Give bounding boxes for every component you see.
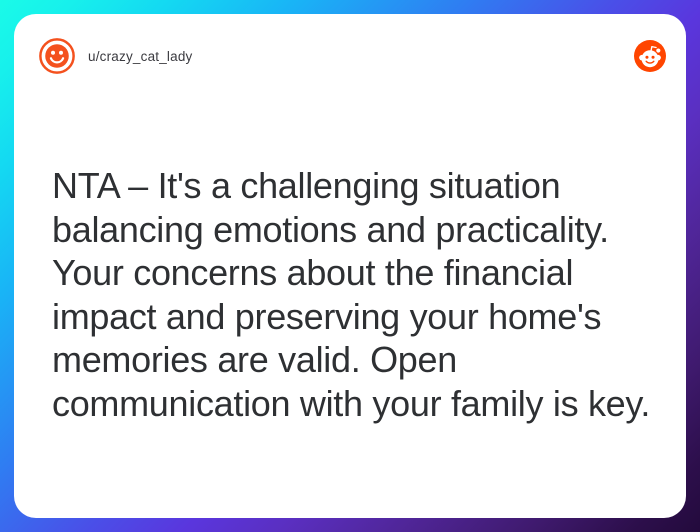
post-header: u/crazy_cat_lady — [14, 14, 686, 98]
author-block[interactable]: u/crazy_cat_lady — [38, 37, 193, 75]
reddit-post-card: u/crazy_cat_lady NTA – It's a challengin… — [14, 14, 686, 518]
author-username: u/crazy_cat_lady — [88, 49, 193, 64]
smiley-face-avatar-icon[interactable] — [38, 37, 76, 75]
reddit-snoo-logo-icon[interactable] — [634, 40, 666, 72]
post-body-text: NTA – It's a challenging situation balan… — [52, 164, 656, 425]
gradient-backdrop: u/crazy_cat_lady NTA – It's a challengin… — [0, 0, 700, 532]
